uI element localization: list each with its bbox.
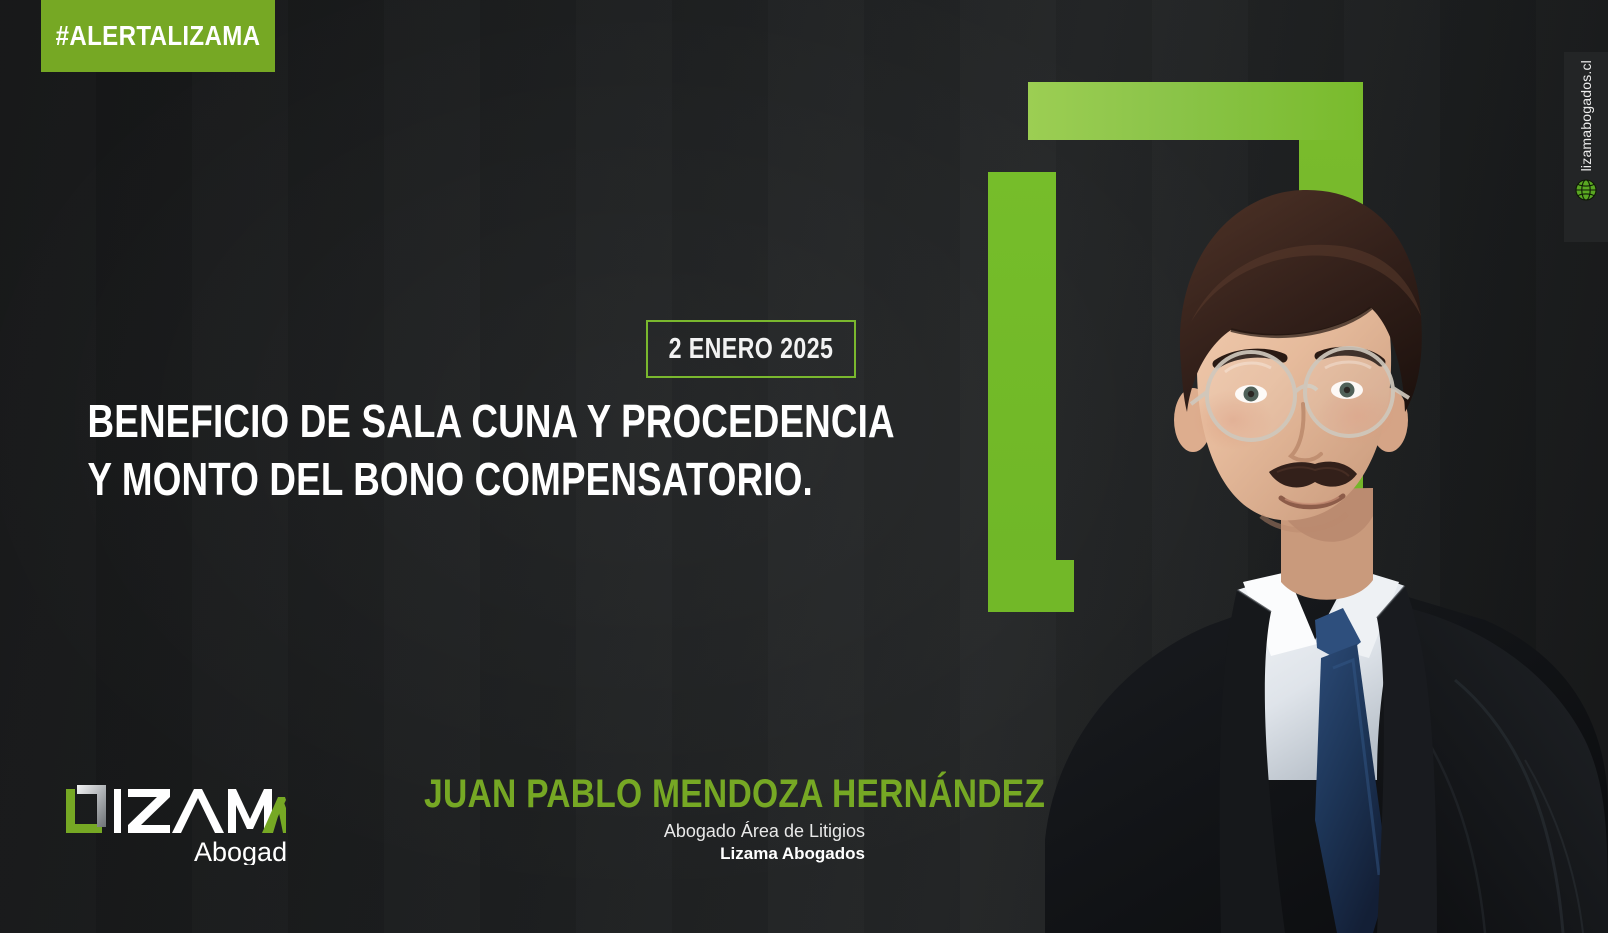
- logo-tagline: Abogados: [194, 837, 286, 865]
- website-tab[interactable]: lizamabogados.cl: [1564, 52, 1608, 242]
- speaker-role: Abogado Área de Litigios: [340, 819, 865, 843]
- website-url-label: lizamabogados.cl: [1578, 60, 1594, 171]
- date-badge: 2 ENERO 2025: [646, 320, 856, 378]
- announcement-card: #ALERTALIZAMA 2 ENERO 2025 BENEFICIO DE …: [0, 0, 1608, 933]
- speaker-portrait-photo: [985, 120, 1608, 933]
- speaker-credit: JUAN PABLO MENDOZA HERNÁNDEZ Abogado Áre…: [340, 772, 865, 865]
- logo-l-mark: [66, 785, 106, 833]
- hashtag-label: #ALERTALIZAMA: [56, 20, 261, 52]
- globe-icon: [1575, 179, 1597, 201]
- headline: BENEFICIO DE SALA CUNA Y PROCEDENCIA Y M…: [0, 392, 875, 508]
- speaker-name: JUAN PABLO MENDOZA HERNÁNDEZ: [424, 772, 865, 816]
- speaker-firm: Lizama Abogados: [340, 843, 865, 865]
- logo-wordmark: [114, 789, 272, 833]
- headline-line-2: Y MONTO DEL BONO COMPENSATORIO.: [88, 450, 788, 508]
- hashtag-badge: #ALERTALIZAMA: [41, 0, 275, 72]
- date-label: 2 ENERO 2025: [669, 333, 834, 366]
- headline-line-1: BENEFICIO DE SALA CUNA Y PROCEDENCIA: [88, 392, 788, 450]
- lizama-logo: Abogados: [64, 775, 286, 865]
